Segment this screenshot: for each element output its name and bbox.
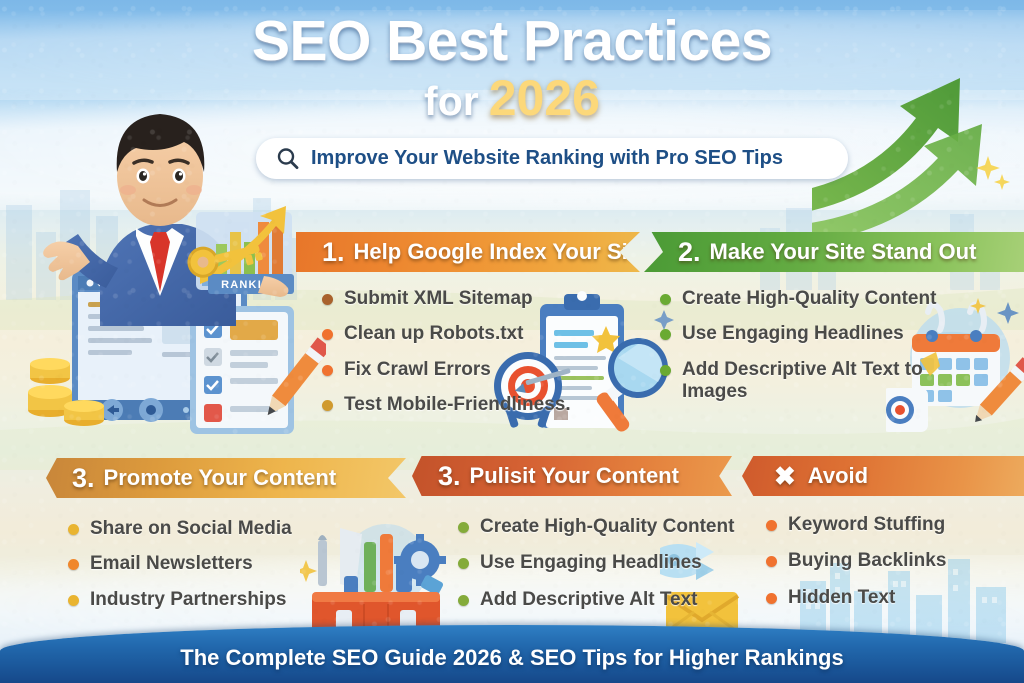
browser-window-icon <box>72 270 247 422</box>
list-item-label: Use Engaging Headlines <box>480 552 702 574</box>
page-title: SEO Best Practices <box>0 13 1024 70</box>
list-item-label: Test Mobile-Friendliness. <box>344 394 571 416</box>
section-number: 2. <box>678 237 701 268</box>
page-subtitle: for2026 <box>0 73 1024 123</box>
section-body-avoid: Keyword Stuffing Buying Backlinks Hidden… <box>766 514 1016 623</box>
list-item-label: Use Engaging Headlines <box>682 323 904 345</box>
list-item: Buying Backlinks <box>766 550 1016 572</box>
list-item: Email Newsletters <box>68 553 368 575</box>
ranking-chart-card: RANKING <box>186 206 294 294</box>
section-header-avoid: ✖ Avoid <box>742 456 1024 496</box>
list-item-label: Share on Social Media <box>90 518 292 540</box>
list-item: Hidden Text <box>766 587 1016 609</box>
coins-icon <box>28 358 104 426</box>
section-body-make-site-stand-out: Create High-Quality Content Use Engaging… <box>660 288 940 417</box>
bullet-dot <box>458 558 469 569</box>
section-header-promote-your-content: 3. Promote Your Content <box>46 458 406 498</box>
close-icon: ✖ <box>774 461 796 492</box>
bullet-dot <box>68 524 79 535</box>
list-item: Use Engaging Headlines <box>458 552 748 574</box>
list-item: Fix Crawl Errors <box>322 359 622 381</box>
bullet-list: Submit XML Sitemap Clean up Robots.txt F… <box>322 288 622 417</box>
bullet-dot <box>660 294 671 305</box>
list-item: Test Mobile-Friendliness. <box>322 394 622 416</box>
footer-text: The Complete SEO Guide 2026 & SEO Tips f… <box>180 645 843 671</box>
section-number: 3. <box>438 461 461 492</box>
list-item-label: Create High-Quality Content <box>682 288 936 310</box>
list-item-label: Add Descriptive Alt Text <box>480 589 698 611</box>
section-number: 3. <box>72 463 95 494</box>
section-title: Make Your Site Stand Out <box>710 239 977 265</box>
search-input-text[interactable]: Improve Your Website Ranking with Pro SE… <box>311 147 783 170</box>
bullet-dot <box>68 559 79 570</box>
list-item-label: Create High-Quality Content <box>480 516 734 538</box>
list-item-label: Email Newsletters <box>90 553 253 575</box>
bullet-dot <box>660 329 671 340</box>
section-title: Avoid <box>808 463 868 489</box>
list-item-label: Submit XML Sitemap <box>344 288 533 310</box>
bullet-list: Create High-Quality Content Use Engaging… <box>458 516 748 611</box>
bullet-dot <box>322 365 333 376</box>
list-item: Keyword Stuffing <box>766 514 1016 536</box>
bullet-list: Share on Social Media Email Newsletters … <box>68 518 368 611</box>
infographic-poster: RANKING <box>0 0 1024 683</box>
list-item: Create High-Quality Content <box>458 516 748 538</box>
list-item-label: Fix Crawl Errors <box>344 359 491 381</box>
poster-header: SEO Best Practices for2026 <box>0 0 1024 123</box>
pencil-icon <box>969 357 1024 427</box>
bullet-dot <box>766 520 777 531</box>
pencil-icon <box>261 337 326 420</box>
bullet-list: Keyword Stuffing Buying Backlinks Hidden… <box>766 514 1016 609</box>
bullet-dot <box>660 365 671 376</box>
list-item-label: Buying Backlinks <box>788 550 946 572</box>
list-item-label: Industry Partnerships <box>90 589 286 611</box>
list-item: Create High-Quality Content <box>660 288 940 310</box>
section-body-help-google-index: Submit XML Sitemap Clean up Robots.txt F… <box>322 288 622 430</box>
section-title: Pulisit Your Content <box>470 463 679 489</box>
section-title: Help Google Index Your Site <box>354 239 648 265</box>
bullet-dot <box>766 556 777 567</box>
search-icon <box>276 147 299 170</box>
bullet-dot <box>322 400 333 411</box>
bullet-dot <box>322 329 333 340</box>
section-number: 1. <box>322 237 345 268</box>
section-body-promote-your-content: Share on Social Media Email Newsletters … <box>68 518 368 624</box>
list-item-label: Clean up Robots.txt <box>344 323 523 345</box>
list-item: Add Descriptive Alt Text <box>458 589 748 611</box>
list-item: Add Descriptive Alt Text to Images <box>660 359 940 404</box>
list-item: Submit XML Sitemap <box>322 288 622 310</box>
bullet-dot <box>766 593 777 604</box>
checklist-icon <box>190 306 294 434</box>
list-item: Clean up Robots.txt <box>322 323 622 345</box>
section-header-make-site-stand-out: 2. Make Your Site Stand Out <box>644 232 1024 272</box>
bullet-dot <box>458 522 469 533</box>
section-body-pulisit-your-content: Create High-Quality Content Use Engaging… <box>458 516 748 625</box>
bullet-dot <box>68 595 79 606</box>
bullet-list: Create High-Quality Content Use Engaging… <box>660 288 940 404</box>
list-item: Industry Partnerships <box>68 589 368 611</box>
list-item: Share on Social Media <box>68 518 368 540</box>
list-item-label: Add Descriptive Alt Text to Images <box>682 359 940 404</box>
section-header-pulisit-your-content: 3. Pulisit Your Content <box>412 456 732 496</box>
subtitle-for-label: for <box>424 78 479 124</box>
list-item-label: Hidden Text <box>788 587 895 609</box>
svg-text:RANKING: RANKING <box>221 279 281 291</box>
list-item-label: Keyword Stuffing <box>788 514 945 536</box>
search-bar[interactable]: Improve Your Website Ranking with Pro SE… <box>256 138 848 179</box>
bullet-dot <box>322 294 333 305</box>
bullet-dot <box>458 595 469 606</box>
subtitle-year-label: 2026 <box>489 70 600 126</box>
section-title: Promote Your Content <box>104 465 337 491</box>
footer-banner: The Complete SEO Guide 2026 & SEO Tips f… <box>0 625 1024 683</box>
section-header-help-google-index: 1. Help Google Index Your Site <box>296 232 640 272</box>
businessman-illustration: RANKING <box>16 80 326 440</box>
list-item: Use Engaging Headlines <box>660 323 940 345</box>
